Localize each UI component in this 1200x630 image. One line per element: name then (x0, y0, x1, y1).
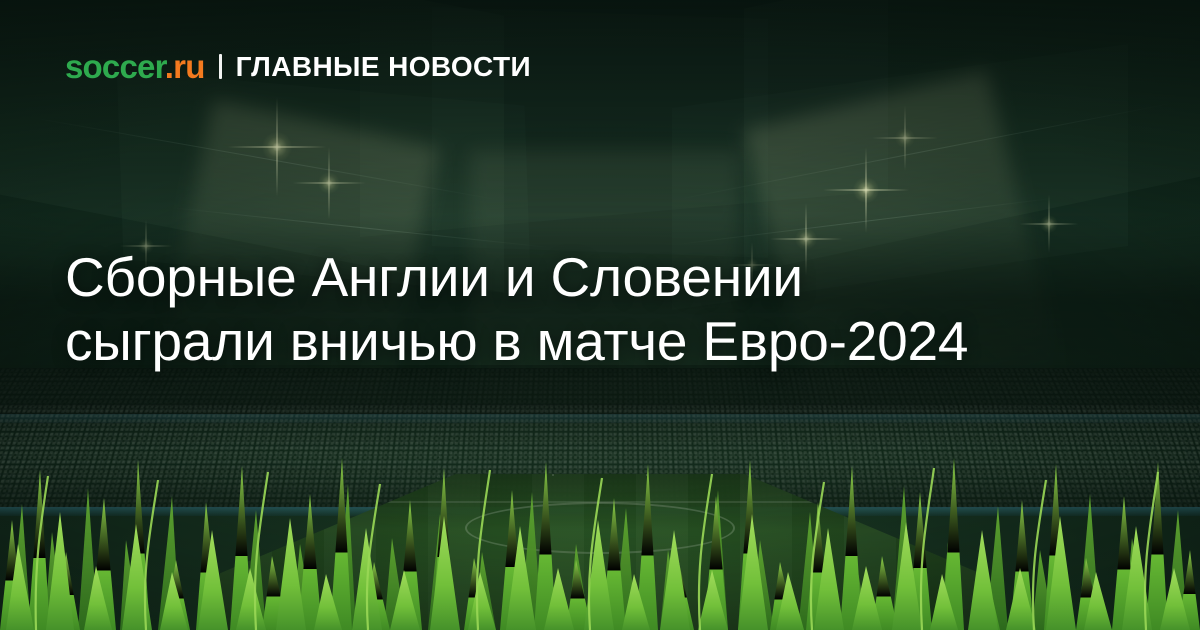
section-kicker-label: ГЛАВНЫЕ НОВОСТИ (236, 51, 531, 83)
foreground-grass-overlay (0, 440, 1200, 630)
logo-text-soccer: soccer (65, 48, 165, 85)
news-share-card: soccer.ru ГЛАВНЫЕ НОВОСТИ Сборные Англии… (0, 0, 1200, 630)
page-title: Сборные Англии и Словении сыграли вничью… (65, 246, 1135, 374)
soccer-ru-logo[interactable]: soccer.ru (65, 50, 205, 83)
card-header: soccer.ru ГЛАВНЫЕ НОВОСТИ (65, 50, 531, 83)
headline-line-2: сыграли вничью в матче Евро-2024 (65, 310, 1135, 374)
logo-text-ru: .ru (165, 48, 205, 85)
headline-line-1: Сборные Англии и Словении (65, 246, 1135, 310)
vertical-bar-icon (219, 54, 222, 79)
